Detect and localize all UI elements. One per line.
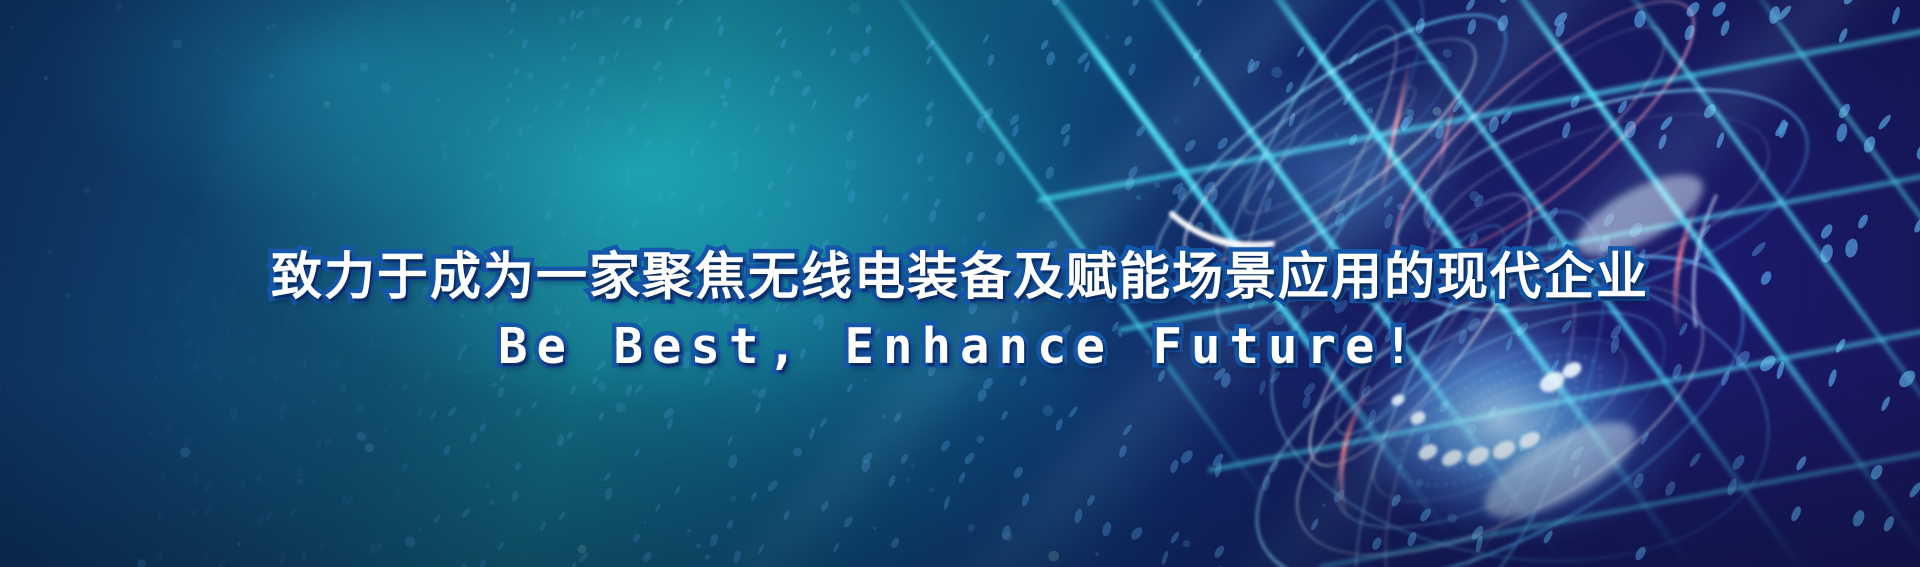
headline-chinese: 致力于成为一家聚焦无线电装备及赋能场景应用的现代企业 (0, 246, 1920, 310)
tagline-english: Be Best, Enhance Future! (0, 316, 1920, 378)
hero-banner: 致力于成为一家聚焦无线电装备及赋能场景应用的现代企业 Be Best, Enha… (0, 0, 1920, 567)
headline-block: 致力于成为一家聚焦无线电装备及赋能场景应用的现代企业 Be Best, Enha… (0, 246, 1920, 378)
